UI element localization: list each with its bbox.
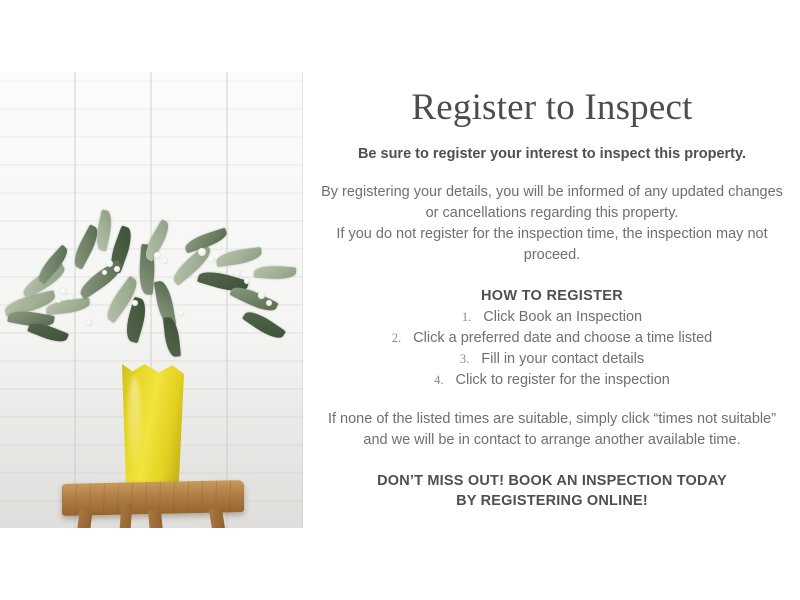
intro-paragraph: By registering your details, you will be… <box>318 182 786 266</box>
page-title: Register to Inspect <box>318 86 786 130</box>
fallback-paragraph: If none of the listed times are suitable… <box>318 409 786 451</box>
eucalyptus-foliage <box>2 200 302 390</box>
cta-line-2: BY REGISTERING ONLINE! <box>456 493 648 509</box>
step-number: 1. <box>462 310 471 324</box>
step-text: Click Book an Inspection <box>483 309 642 325</box>
poster-canvas: Register to Inspect Be sure to register … <box>0 0 800 600</box>
step-text: Fill in your contact details <box>481 351 644 367</box>
step-number: 3. <box>460 352 469 366</box>
step-text: Click to register for the inspection <box>456 372 670 388</box>
step-number: 2. <box>392 331 401 345</box>
list-item: 1.Click Book an Inspection <box>318 307 786 328</box>
list-item: 4.Click to register for the inspection <box>318 370 786 391</box>
step-text: Click a preferred date and choose a time… <box>413 330 712 346</box>
call-to-action: DON’T MISS OUT! BOOK AN INSPECTION TODAY… <box>318 471 786 511</box>
panel-subtitle: Be sure to register your interest to ins… <box>318 144 786 164</box>
yellow-vase <box>118 364 184 486</box>
register-to-inspect-panel: Register to Inspect Be sure to register … <box>318 86 786 511</box>
how-to-register-heading: HOW TO REGISTER <box>318 286 786 307</box>
vase-highlight <box>128 376 141 471</box>
property-photo <box>0 72 303 528</box>
cta-line-1: DON’T MISS OUT! BOOK AN INSPECTION TODAY <box>377 473 727 489</box>
step-number: 4. <box>434 373 443 387</box>
list-item: 2.Click a preferred date and choose a ti… <box>318 328 786 349</box>
how-to-register-steps: 1.Click Book an Inspection 2.Click a pre… <box>318 307 786 391</box>
list-item: 3.Fill in your contact details <box>318 349 786 370</box>
